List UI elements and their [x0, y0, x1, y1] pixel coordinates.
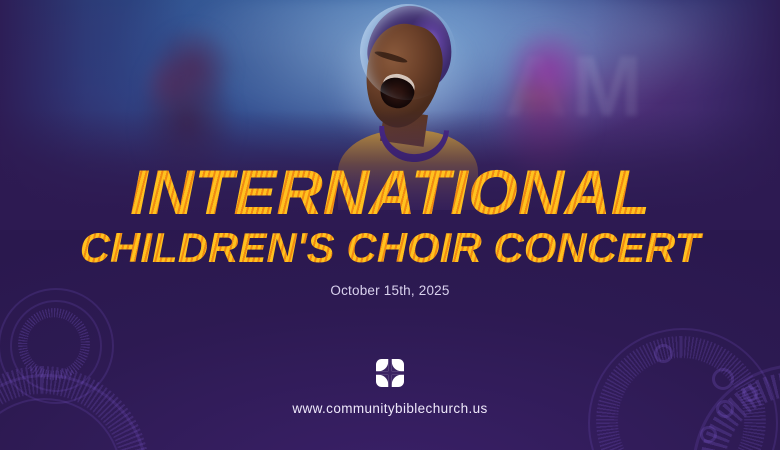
- title-line-1: INTERNATIONAL: [0, 163, 780, 223]
- headline-block: INTERNATIONAL CHILDREN'S CHOIR CONCERT O…: [0, 0, 780, 298]
- website-url: www.communitybiblechurch.us: [292, 401, 487, 416]
- poster-footer: www.communitybiblechurch.us: [0, 359, 780, 416]
- community-bible-church-cross-logo: [376, 359, 404, 387]
- title-line-2: CHILDREN'S CHOIR CONCERT: [0, 227, 780, 269]
- concert-promo-poster: AM INTERNATIONAL CHILDREN'S CHOIR CONCER…: [0, 0, 780, 450]
- event-date: October 15th, 2025: [0, 283, 780, 298]
